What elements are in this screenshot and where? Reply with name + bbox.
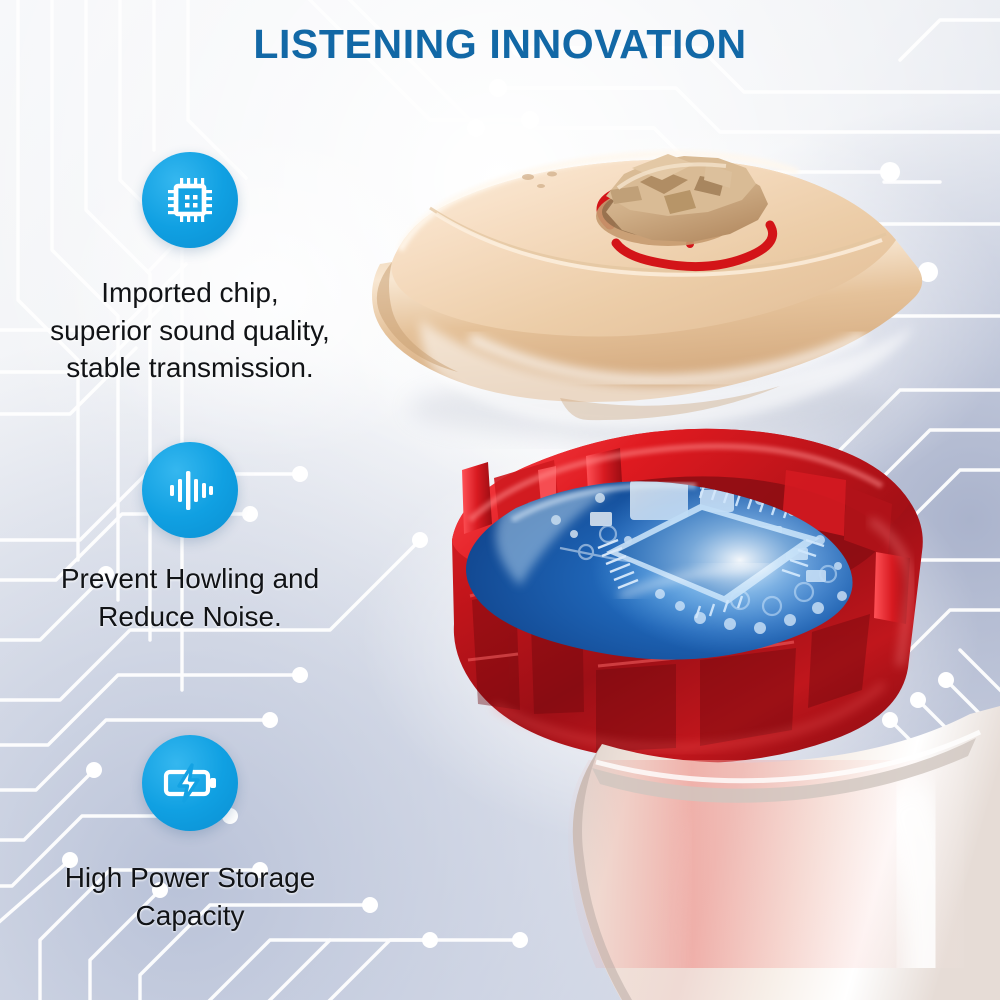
feature-icon-badge-3: [142, 735, 238, 831]
feature-item-high-power-storage: High Power Storage Capacity: [0, 735, 380, 985]
feature-list: Imported chip, superior sound quality, s…: [0, 140, 380, 985]
feature-text-line: superior sound quality,: [0, 312, 380, 350]
feature-icon-badge-2: [142, 442, 238, 538]
chip-icon: [162, 172, 218, 228]
battery-charging-icon: [160, 753, 220, 813]
feature-item-imported-chip: Imported chip, superior sound quality, s…: [0, 152, 380, 427]
feature-text-line: High Power Storage: [0, 859, 380, 897]
feature-text-line: Imported chip,: [0, 274, 380, 312]
feature-text-line: Prevent Howling and: [0, 560, 380, 598]
feature-text-line: stable transmission.: [0, 349, 380, 387]
soundwave-icon: [162, 462, 218, 518]
feature-text-3: High Power Storage Capacity: [0, 859, 380, 934]
feature-text-1: Imported chip, superior sound quality, s…: [0, 274, 380, 387]
page-title: LISTENING INNOVATION: [0, 24, 1000, 65]
infographic-page: LISTENING INNOVATION: [0, 0, 1000, 1000]
feature-text-line: Capacity: [0, 897, 380, 935]
feature-item-prevent-howling: Prevent Howling and Reduce Noise.: [0, 442, 380, 717]
feature-text-line: Reduce Noise.: [0, 598, 380, 636]
feature-icon-badge-1: [142, 152, 238, 248]
feature-text-2: Prevent Howling and Reduce Noise.: [0, 560, 380, 635]
